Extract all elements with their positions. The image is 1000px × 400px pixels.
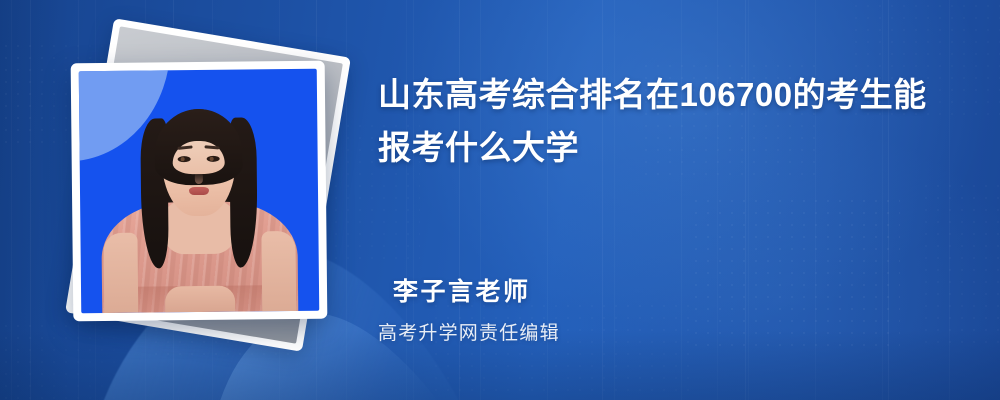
banner-title: 山东高考综合排名在106700的考生能报考什么大学 bbox=[378, 68, 948, 175]
portrait-lips bbox=[189, 187, 209, 195]
portrait-nose bbox=[195, 172, 203, 184]
banner-text-block: 山东高考综合排名在106700的考生能报考什么大学 李子言老师 高考升学网责任编… bbox=[374, 0, 974, 400]
portrait-arm-left bbox=[103, 233, 138, 313]
author-portrait-photo bbox=[79, 69, 320, 313]
author-role-label: 高考升学网责任编辑 bbox=[378, 318, 560, 345]
front-photo-card bbox=[71, 61, 328, 322]
article-banner: 山东高考综合排名在106700的考生能报考什么大学 李子言老师 高考升学网责任编… bbox=[0, 0, 1000, 400]
photo-stack bbox=[0, 0, 350, 400]
author-name: 李子言老师 bbox=[393, 272, 531, 308]
portrait-hands bbox=[165, 286, 235, 313]
portrait-eye-right bbox=[207, 156, 220, 162]
portrait-figure bbox=[79, 69, 320, 313]
portrait-eye-left bbox=[178, 156, 191, 162]
portrait-arm-right bbox=[261, 231, 296, 311]
